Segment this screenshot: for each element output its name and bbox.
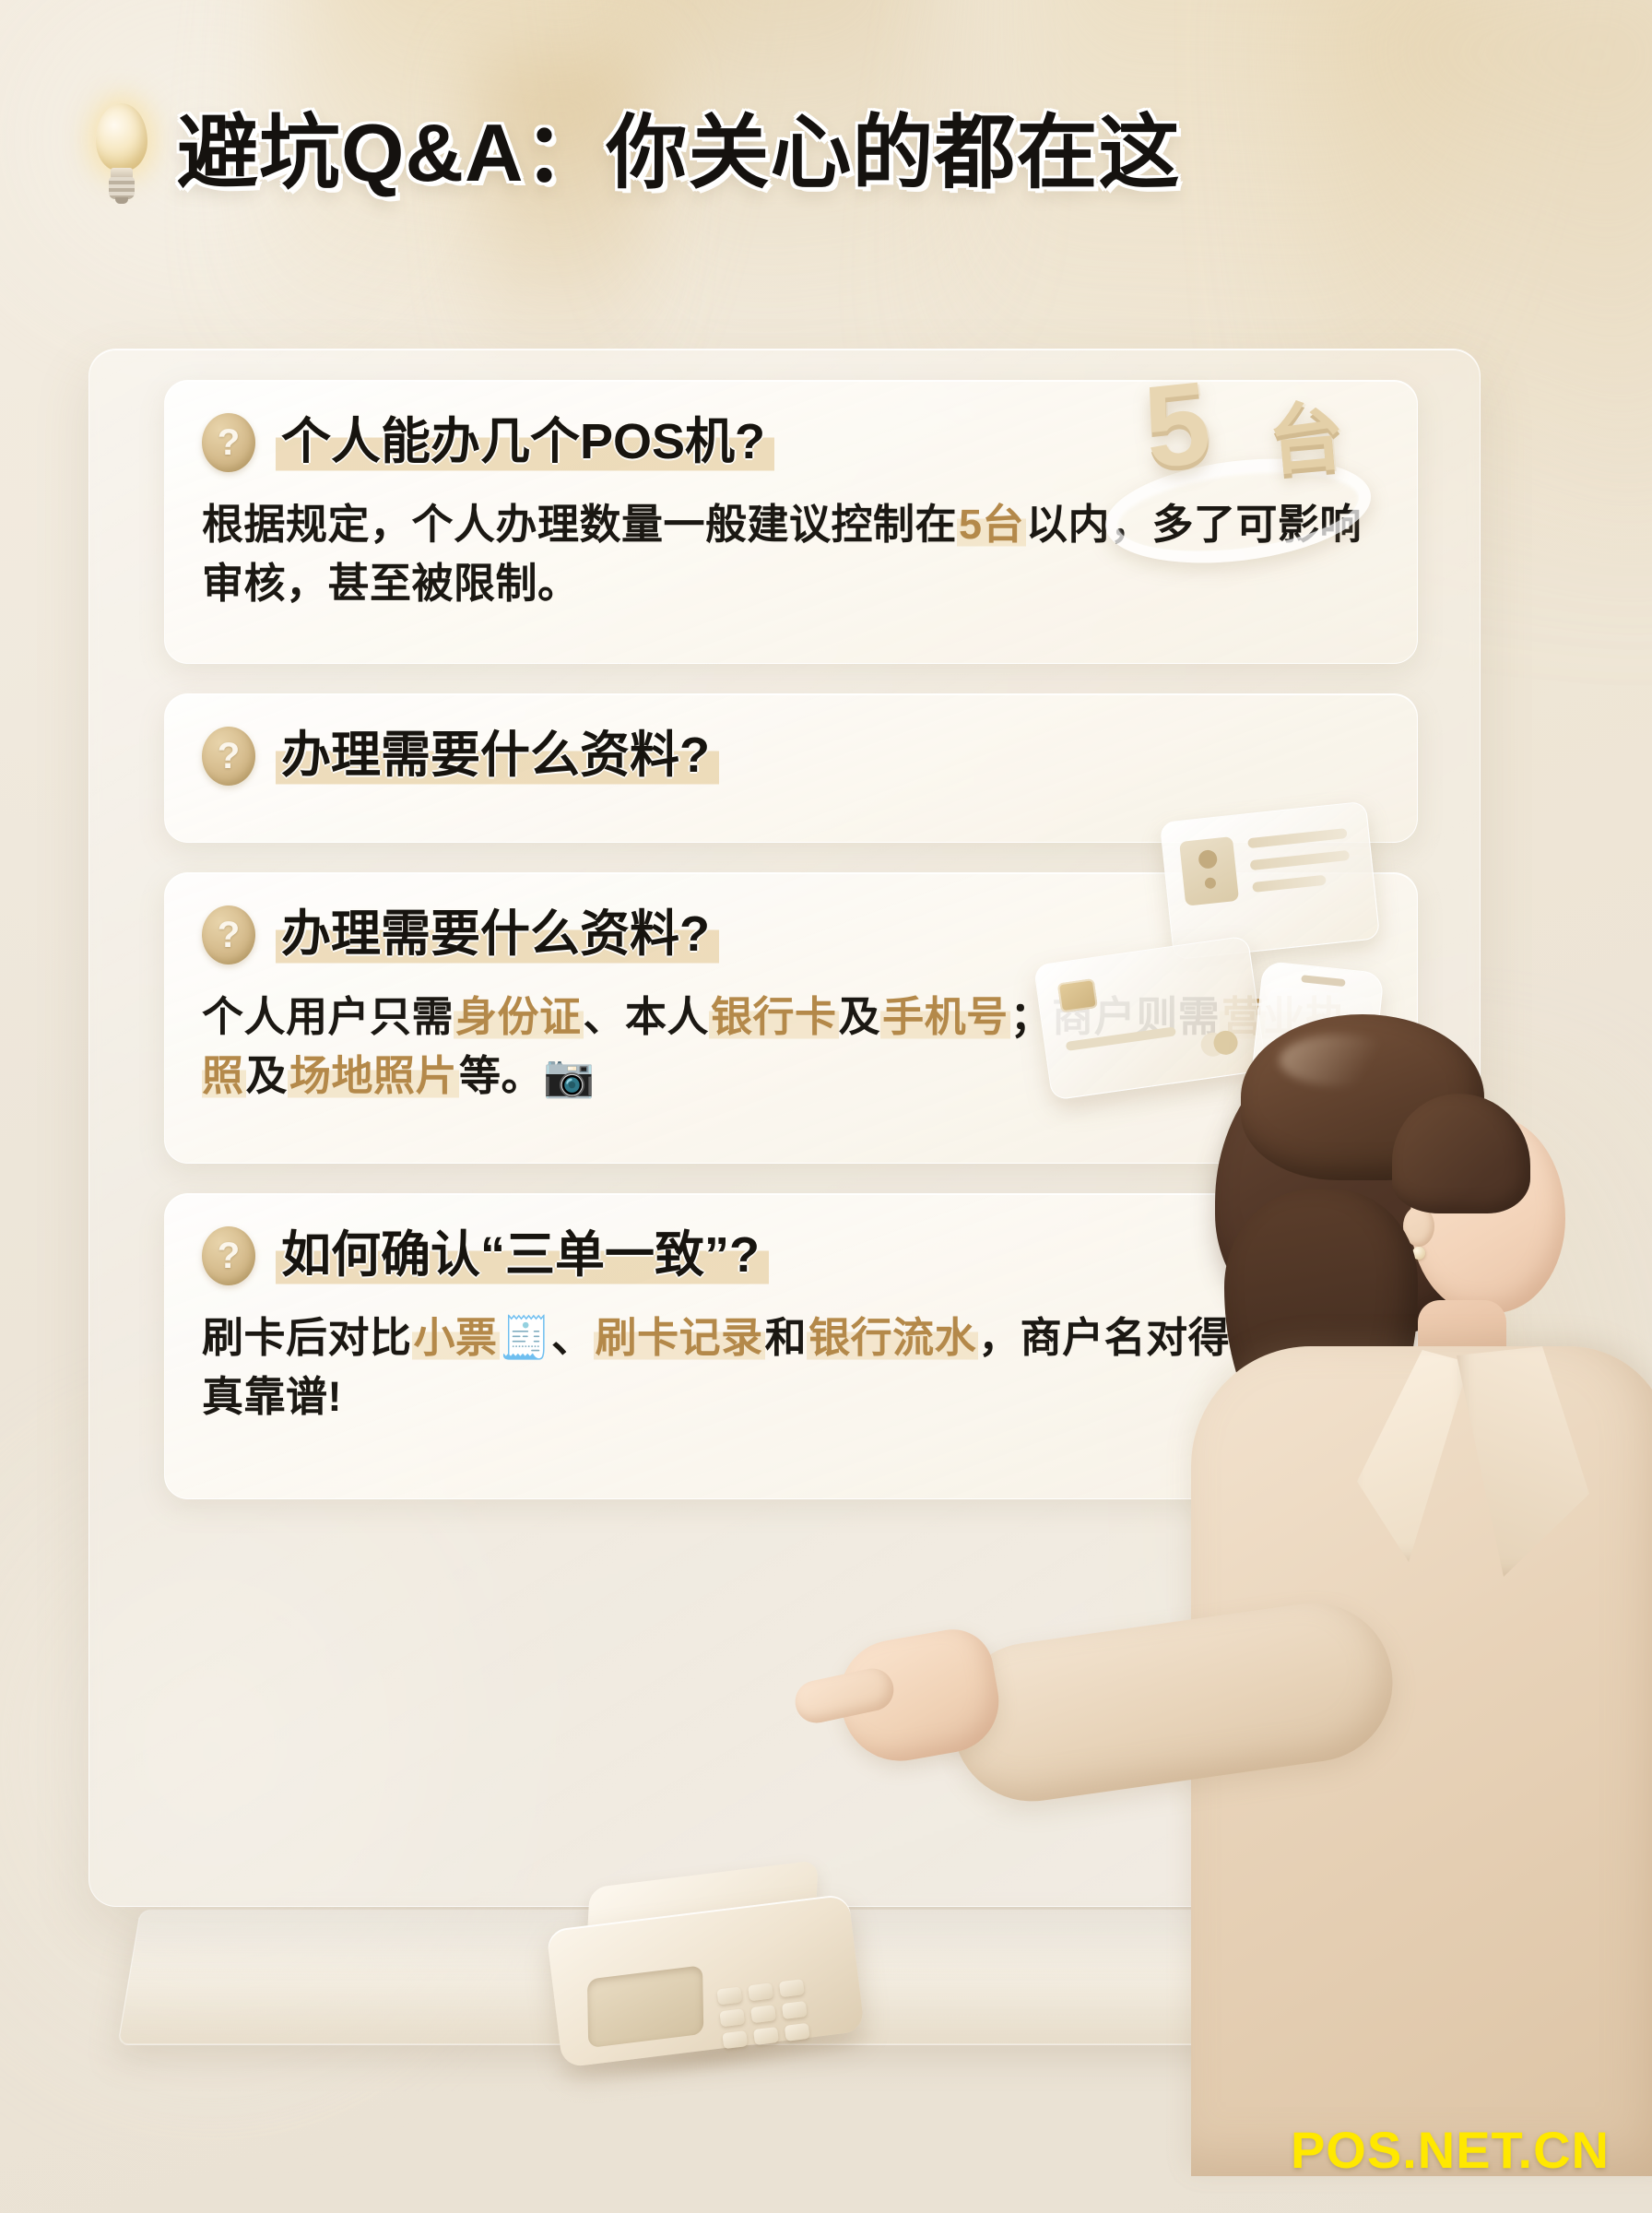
- pos-screen: [587, 1965, 703, 2048]
- qa-question: 个人能办几个POS机?: [276, 412, 774, 473]
- question-mark-icon: ?: [202, 905, 255, 964]
- five-units-illustration: 5 台: [1088, 361, 1392, 592]
- site-watermark: POS.NET.CN: [1291, 2120, 1610, 2180]
- qa-question: 如何确认“三单一致”?: [276, 1225, 769, 1286]
- lightbulb-base: [109, 177, 135, 199]
- highlighted-term: 银行流水: [807, 1314, 978, 1361]
- pos-key: [716, 1986, 742, 2005]
- highlighted-term: 身份证: [454, 993, 584, 1040]
- answer-text: 及: [246, 1052, 289, 1099]
- answer-text: 🧾、: [500, 1314, 594, 1361]
- pos-key: [750, 2005, 776, 2023]
- lightbulb-tip: [115, 197, 128, 204]
- character-hair-shine: [1280, 1035, 1399, 1086]
- answer-text: 及: [839, 993, 881, 1040]
- lightbulb-icon: [88, 103, 155, 203]
- highlighted-term: 场地照片: [288, 1052, 459, 1099]
- id-line: [1252, 875, 1327, 893]
- question-mark-icon: ?: [202, 727, 255, 786]
- page-header: 避坑Q&A：你关心的都在这: [88, 103, 1181, 203]
- pos-key: [782, 2001, 808, 2019]
- pos-key: [779, 1979, 805, 1997]
- id-card-icon: [1160, 801, 1380, 961]
- pos-key: [722, 2030, 748, 2049]
- qa-card-header: ? 办理需要什么资料?: [202, 726, 1380, 787]
- pos-keypad: [716, 1975, 840, 2055]
- character-hair-front: [1392, 1094, 1530, 1213]
- question-mark-icon: ?: [202, 1226, 255, 1285]
- lightbulb-glass: [96, 103, 147, 172]
- five-units-unit: 台: [1266, 399, 1348, 481]
- five-units-number: 5: [1139, 364, 1216, 487]
- answer-text: 、本人: [584, 993, 710, 1040]
- woman-3d-character: [1106, 977, 1652, 2213]
- id-photo: [1179, 836, 1239, 906]
- answer-text: 根据规定，个人办理数量一般建议控制在: [202, 501, 957, 548]
- pos-terminal-illustration: [541, 1852, 914, 2105]
- answer-text: 等。📷: [459, 1052, 596, 1099]
- id-line: [1250, 850, 1351, 870]
- highlighted-term: 银行卡: [709, 993, 839, 1040]
- qa-question: 办理需要什么资料?: [276, 726, 719, 787]
- card-chip: [1057, 978, 1098, 1012]
- pos-key: [719, 2008, 745, 2027]
- pos-key: [748, 1982, 773, 2001]
- pos-key: [753, 2027, 779, 2045]
- answer-text: 个人用户只需: [202, 993, 454, 1040]
- highlighted-term: 小票: [412, 1314, 500, 1361]
- page-title: 避坑Q&A：你关心的都在这: [177, 112, 1181, 194]
- answer-text: 和: [765, 1314, 808, 1361]
- highlighted-term: 5台: [957, 501, 1026, 548]
- qa-question: 办理需要什么资料?: [276, 905, 719, 965]
- question-mark-icon: ?: [202, 413, 255, 472]
- answer-text: 刷卡后对比: [202, 1314, 412, 1361]
- id-line: [1247, 828, 1348, 848]
- highlighted-term: 刷卡记录: [594, 1314, 765, 1361]
- pos-key: [785, 2023, 810, 2041]
- highlighted-term: 手机号: [880, 993, 1010, 1040]
